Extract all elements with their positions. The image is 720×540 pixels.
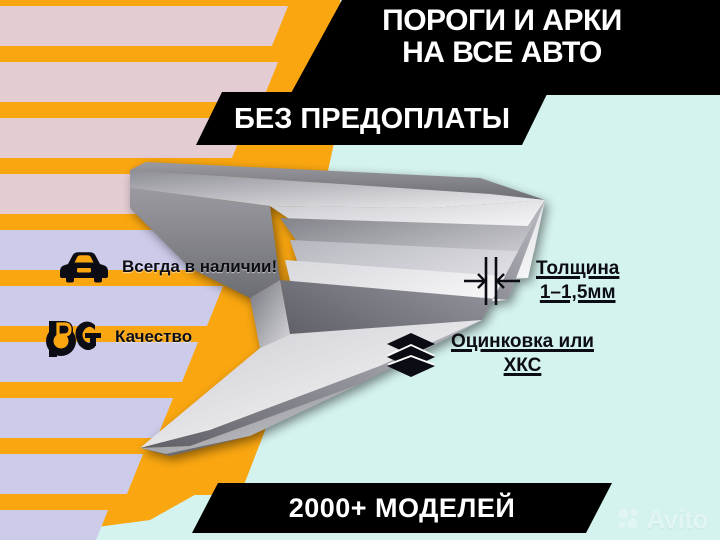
avito-watermark: Avito [617, 506, 708, 532]
ad-banner: ПОРОГИ И АРКИ НА ВСЕ АВТО [0, 0, 720, 540]
feature-quality: Качество [45, 315, 192, 359]
feature-label: Всегда в наличии! [122, 257, 277, 277]
thickness-line-2: 1–1,5мм [536, 281, 619, 305]
feature-label: Качество [115, 327, 192, 347]
page-title: ПОРОГИ И АРКИ НА ВСЕ АВТО [302, 5, 702, 70]
thickness-measure-icon [462, 255, 522, 307]
bottom-banner-label: 2000+ МОДЕЛЕЙ [192, 485, 612, 532]
stripe [0, 6, 288, 46]
avito-dots-icon [617, 507, 641, 531]
layers-icon [385, 331, 437, 377]
car-icon [58, 250, 110, 284]
headline-line-2: НА ВСЕ АВТО [302, 37, 702, 69]
feature-thickness: Толщина 1–1,5мм [462, 255, 619, 307]
stripe [0, 454, 143, 494]
feature-label: Оцинковка или ХКС [451, 330, 594, 378]
headline-line-1: ПОРОГИ И АРКИ [382, 4, 622, 37]
subheadline: БЕЗ ПРЕДОПЛАТЫ [196, 95, 548, 143]
avito-wordmark: Avito [646, 506, 708, 532]
stripe [0, 510, 108, 540]
feature-label: Толщина 1–1,5мм [536, 257, 619, 305]
feature-coating: Оцинковка или ХКС [385, 330, 594, 378]
rst-certification-icon [45, 315, 103, 359]
thickness-line-1: Толщина [536, 257, 619, 281]
coating-line-2: ХКС [451, 354, 594, 378]
coating-line-1: Оцинковка или [451, 330, 594, 354]
feature-always-in-stock: Всегда в наличии! [58, 250, 277, 284]
